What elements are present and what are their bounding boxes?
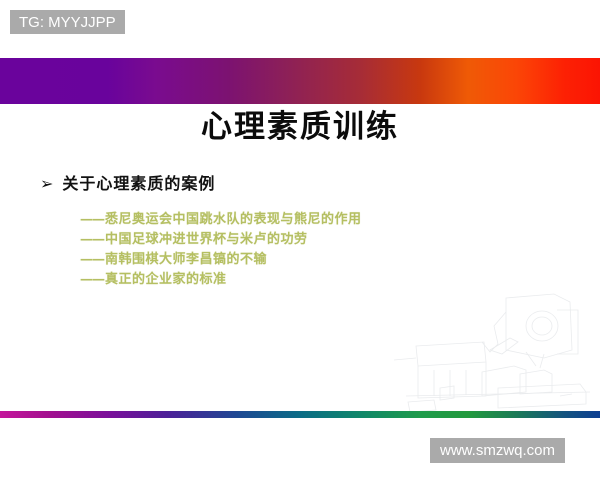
list-item: ——悉尼奥运会中国跳水队的表现与熊尼的作用: [80, 210, 600, 230]
list-item: ——真正的企业家的标准: [80, 270, 600, 290]
em-dash-prefix: ——: [80, 272, 104, 287]
bullet-item: ➢ 关于心理素质的案例: [0, 172, 600, 196]
list-item-label: 南韩围棋大师李昌镐的不输: [105, 252, 267, 267]
bottom-watermark-badge: www.smzwq.com: [430, 438, 565, 463]
list-item-label: 中国足球冲进世界杯与米卢的功劳: [105, 232, 308, 247]
machine-sketch-watermark: [394, 292, 594, 414]
top-gradient-band: [0, 58, 600, 104]
arrow-bullet-icon: ➢: [40, 172, 53, 196]
list-item-label: 悉尼奥运会中国跳水队的表现与熊尼的作用: [105, 212, 362, 227]
bottom-gradient-band: [0, 411, 600, 418]
top-watermark-badge: TG: MYYJJPP: [10, 10, 125, 34]
slide-body: ➢ 关于心理素质的案例 ——悉尼奥运会中国跳水队的表现与熊尼的作用 ——中国足球…: [0, 172, 600, 290]
em-dash-prefix: ——: [80, 212, 104, 227]
em-dash-prefix: ——: [80, 232, 104, 247]
list-item: ——中国足球冲进世界杯与米卢的功劳: [80, 230, 600, 250]
list-item-label: 真正的企业家的标准: [105, 272, 227, 287]
em-dash-prefix: ——: [80, 252, 104, 267]
bullet-item-label: 关于心理素质的案例: [62, 172, 215, 196]
sub-item-list: ——悉尼奥运会中国跳水队的表现与熊尼的作用 ——中国足球冲进世界杯与米卢的功劳 …: [0, 210, 600, 290]
page-title: 心理素质训练: [0, 104, 600, 150]
list-item: ——南韩围棋大师李昌镐的不输: [80, 250, 600, 270]
presentation-slide: 心理素质训练 ➢ 关于心理素质的案例 ——悉尼奥运会中国跳水队的表现与熊尼的作用…: [0, 0, 600, 480]
